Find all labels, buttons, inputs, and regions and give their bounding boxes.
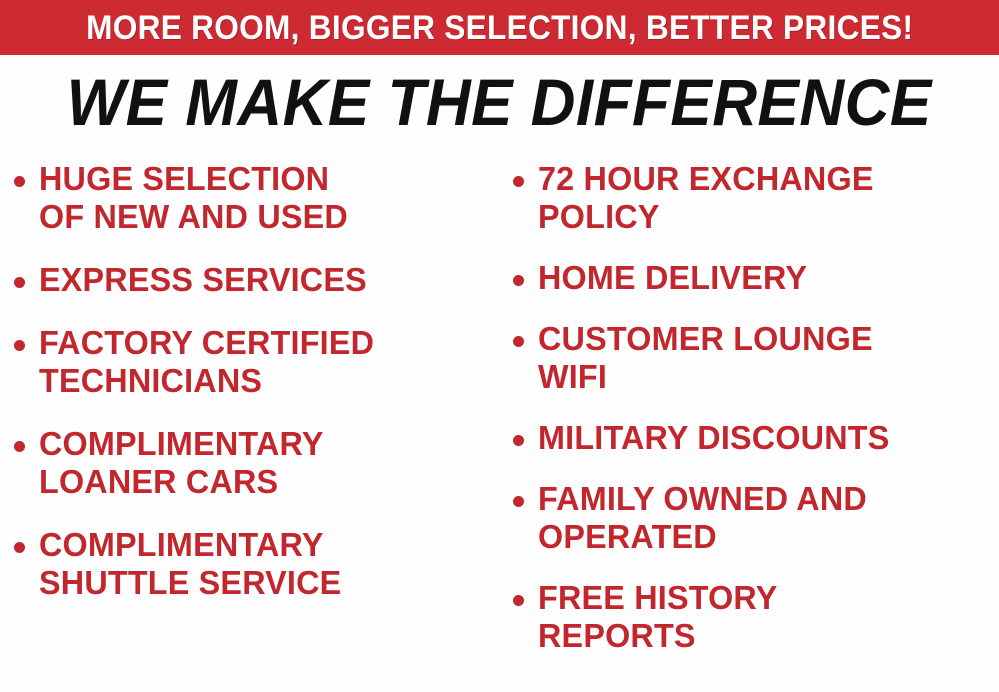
- bullet-dot-icon: [14, 441, 25, 452]
- headline-container: WE MAKE THE DIFFERENCE: [0, 62, 999, 142]
- list-item-label: FAMILY OWNED AND OPERATED: [538, 480, 867, 556]
- list-item-label: MILITARY DISCOUNTS: [538, 419, 889, 457]
- feature-column-right: 72 HOUR EXCHANGE POLICY HOME DELIVERY CU…: [513, 160, 999, 678]
- list-item: CUSTOMER LOUNGE WIFI: [513, 320, 999, 396]
- bullet-dot-icon: [14, 340, 25, 351]
- bullet-dot-icon: [513, 435, 524, 446]
- bullet-dot-icon: [513, 496, 524, 507]
- advertisement-banner: MORE ROOM, BIGGER SELECTION, BETTER PRIC…: [0, 0, 999, 692]
- bullet-dot-icon: [513, 275, 524, 286]
- list-item-label: EXPRESS SERVICES: [39, 261, 367, 299]
- bullet-dot-icon: [14, 542, 25, 553]
- list-item: MILITARY DISCOUNTS: [513, 419, 999, 457]
- list-item: FREE HISTORY REPORTS: [513, 579, 999, 655]
- list-item-label: COMPLIMENTARY SHUTTLE SERVICE: [39, 526, 341, 602]
- list-item: 72 HOUR EXCHANGE POLICY: [513, 160, 999, 236]
- list-item: EXPRESS SERVICES: [14, 261, 504, 299]
- list-item: FACTORY CERTIFIED TECHNICIANS: [14, 324, 504, 400]
- feature-column-left: HUGE SELECTION OF NEW AND USED EXPRESS S…: [14, 160, 504, 627]
- bullet-dot-icon: [513, 176, 524, 187]
- bullet-dot-icon: [14, 277, 25, 288]
- promo-banner: MORE ROOM, BIGGER SELECTION, BETTER PRIC…: [0, 0, 999, 55]
- list-item: COMPLIMENTARY LOANER CARS: [14, 425, 504, 501]
- bullet-dot-icon: [513, 595, 524, 606]
- list-item: FAMILY OWNED AND OPERATED: [513, 480, 999, 556]
- bullet-dot-icon: [513, 336, 524, 347]
- list-item-label: FREE HISTORY REPORTS: [538, 579, 778, 655]
- list-item-label: COMPLIMENTARY LOANER CARS: [39, 425, 324, 501]
- feature-columns: HUGE SELECTION OF NEW AND USED EXPRESS S…: [0, 160, 999, 692]
- bullet-dot-icon: [14, 176, 25, 187]
- list-item: HUGE SELECTION OF NEW AND USED: [14, 160, 504, 236]
- promo-banner-text: MORE ROOM, BIGGER SELECTION, BETTER PRIC…: [86, 11, 913, 45]
- list-item-label: HOME DELIVERY: [538, 259, 807, 297]
- list-item: COMPLIMENTARY SHUTTLE SERVICE: [14, 526, 504, 602]
- list-item-label: FACTORY CERTIFIED TECHNICIANS: [39, 324, 374, 400]
- list-item: HOME DELIVERY: [513, 259, 999, 297]
- list-item-label: 72 HOUR EXCHANGE POLICY: [538, 160, 874, 236]
- page-title: WE MAKE THE DIFFERENCE: [67, 69, 932, 135]
- list-item-label: CUSTOMER LOUNGE WIFI: [538, 320, 873, 396]
- list-item-label: HUGE SELECTION OF NEW AND USED: [39, 160, 348, 236]
